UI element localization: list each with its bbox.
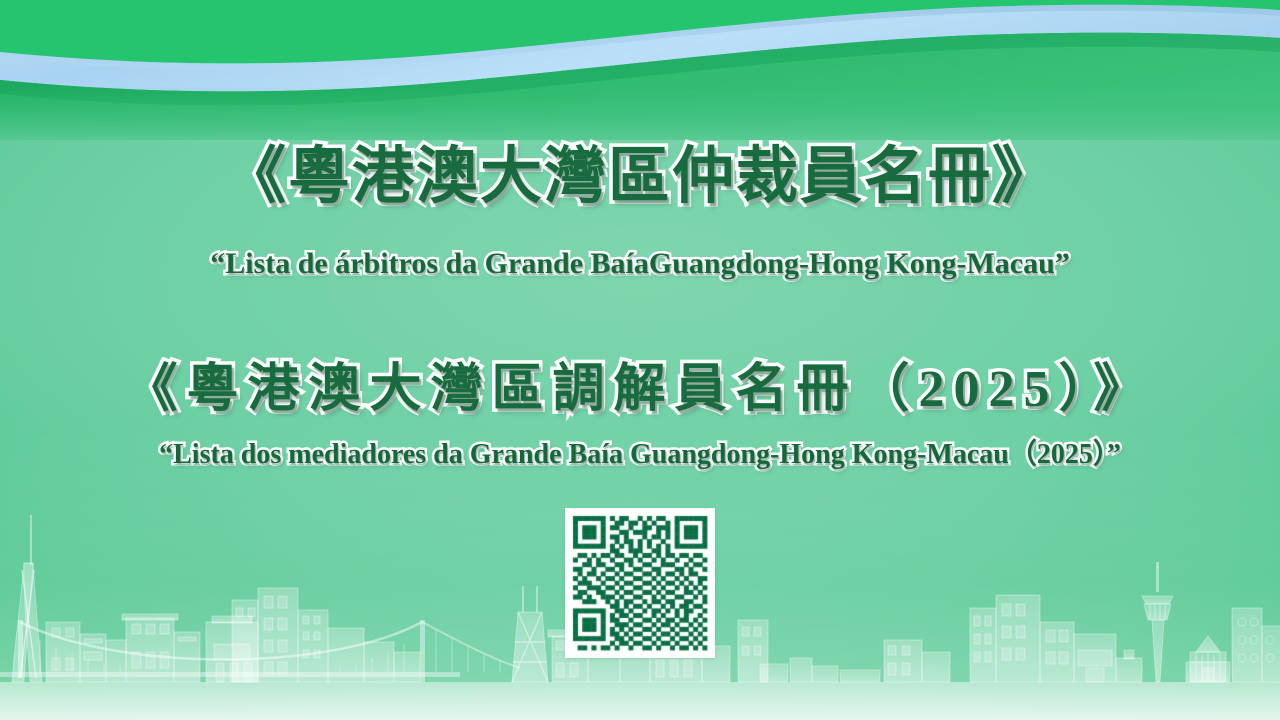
canton-tower-icon: [12, 515, 42, 682]
mediators-portuguese-subtitle: “Lista dos mediadores da Grande Baía Gua…: [0, 440, 1280, 471]
mediators-chinese-title: 《粵港澳大灣區調解員名冊（2025）》: [0, 363, 1280, 418]
macau-tower-icon: [1142, 562, 1173, 682]
skyline-ground-band: [0, 682, 1280, 720]
wave-fade: [0, 86, 1280, 140]
wave-ribbon-decoration: [0, 0, 1280, 140]
ruins-of-st-pauls-icon: [1186, 636, 1230, 682]
qr-code-canvas[interactable]: [565, 508, 715, 658]
poster-root: 《粵港澳大灣區仲裁員名冊》 “Lista de árbitros da Gran…: [0, 0, 1280, 720]
arbitrators-portuguese-subtitle: “Lista de árbitros da Grande BaíaGuangdo…: [0, 247, 1280, 280]
bank-of-china-tower-icon: [512, 586, 548, 682]
wave-svg: [0, 0, 1280, 140]
arbitrators-chinese-title: 《粵港澳大灣區仲裁員名冊》: [0, 145, 1280, 210]
qr-code[interactable]: [565, 508, 715, 658]
